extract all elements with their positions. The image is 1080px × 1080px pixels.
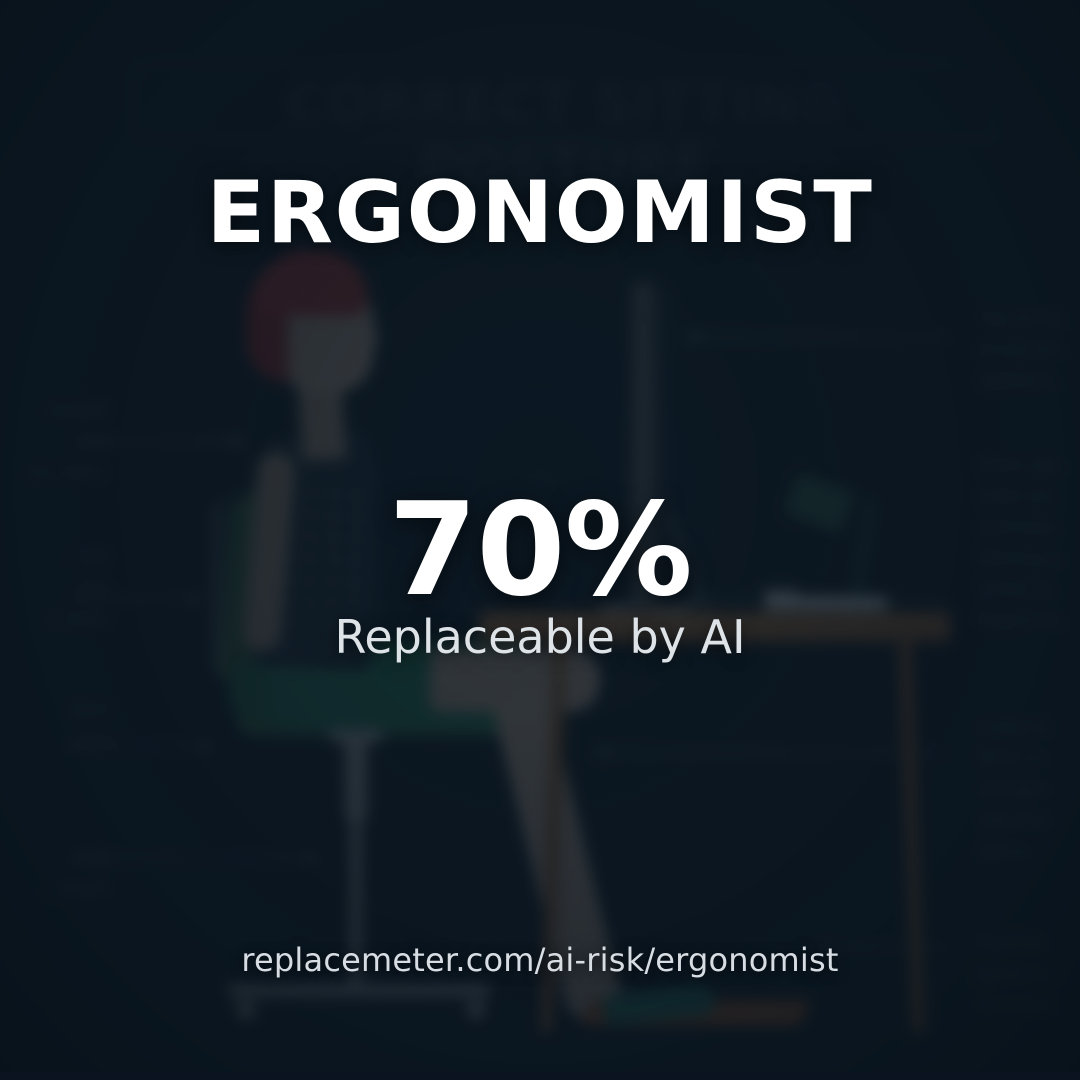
card-foreground: ERGONOMIST 70% Replaceable by AI replace… <box>0 0 1080 1080</box>
social-share-card: CORRECT SITTING POSTURE ...straight...er… <box>0 0 1080 1080</box>
replaceability-label: Replaceable by AI <box>0 610 1080 664</box>
bottom-edge-bar <box>0 1072 1080 1080</box>
occupation-title: ERGONOMIST <box>0 163 1080 263</box>
source-url[interactable]: replacemeter.com/ai-risk/ergonomist <box>0 941 1080 979</box>
replaceability-percent: 70% <box>0 487 1080 615</box>
